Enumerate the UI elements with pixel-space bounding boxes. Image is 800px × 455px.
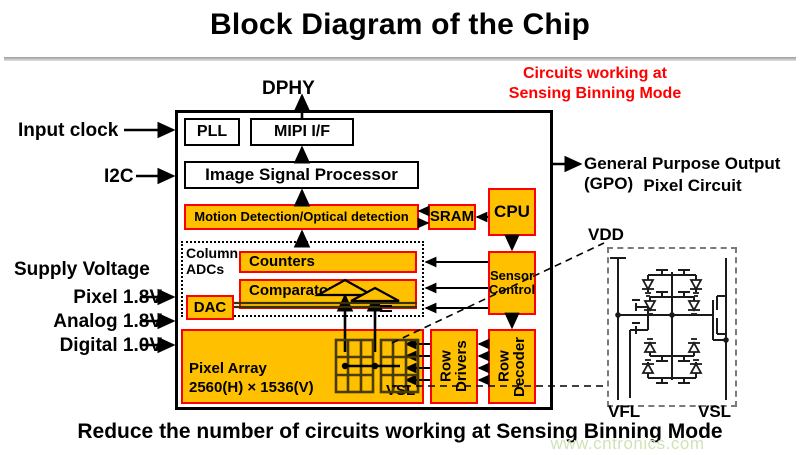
- diagram-wires: [0, 0, 800, 455]
- watermark: www.cntronics.com: [455, 434, 800, 454]
- pixel-circuit-schematic: [610, 258, 726, 400]
